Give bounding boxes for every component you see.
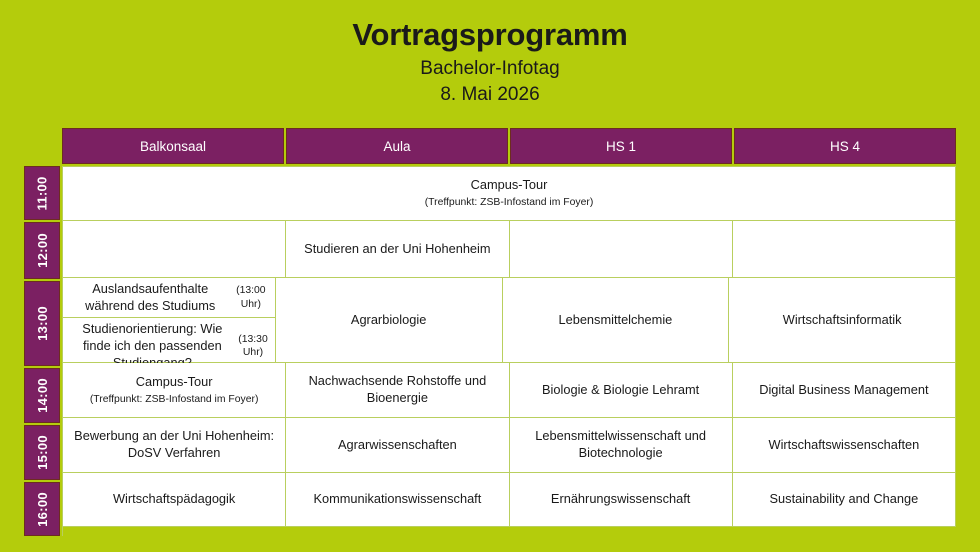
page-subtitle: Bachelor-Infotag [0, 56, 980, 82]
table-row: Studieren an der Uni Hohenheim [63, 221, 956, 278]
session-title: Kommunikationswissenschaft [313, 491, 481, 508]
session-title: Wirtschaftspädagogik [113, 491, 235, 508]
table-body: 11:00 12:00 13:00 14:00 15:00 16:00 [24, 166, 956, 536]
table-row: Wirtschaftspädagogik Kommunikationswisse… [63, 473, 956, 527]
schedule-table: Balkonsaal Aula HS 1 HS 4 11:00 12:00 13… [24, 128, 956, 536]
session-cell-auslandsaufenthalte[interactable]: Auslandsaufenthalte während des Studiums… [63, 278, 275, 318]
session-note: (Treffpunkt: ZSB-Infostand im Foyer) [425, 196, 594, 210]
column-header-hs1: HS 1 [510, 128, 732, 164]
session-cell-wirtschaftswissenschaften[interactable]: Wirtschaftswissenschaften [733, 418, 956, 472]
session-title: Wirtschaftsinformatik [783, 312, 902, 329]
time-label: 11:00 [35, 176, 50, 210]
session-title: Campus-Tour [471, 177, 548, 194]
time-cell-1100: 11:00 [24, 166, 60, 220]
session-title: Agrarbiologie [351, 312, 426, 329]
session-title: Nachwachsende Rohstoffe und Bioenergie [293, 373, 501, 407]
time-label: 13:00 [35, 306, 50, 341]
time-column: 11:00 12:00 13:00 14:00 15:00 16:00 [24, 166, 60, 536]
session-title: Ernährungswissenschaft [551, 491, 690, 508]
session-cell-lebensmittelwissenschaft-biotechnologie[interactable]: Lebensmittelwissenschaft und Biotechnolo… [510, 418, 733, 472]
session-title: Lebensmittelchemie [558, 312, 672, 329]
column-header-aula: Aula [286, 128, 508, 164]
session-cell-ernaehrungswissenschaft[interactable]: Ernährungswissenschaft [510, 473, 733, 526]
session-cell-studieren-1200-aula[interactable]: Studieren an der Uni Hohenheim [286, 221, 509, 277]
session-cell-empty-1200-hs1 [510, 221, 733, 277]
page-date: 8. Mai 2026 [0, 82, 980, 108]
session-title: Campus-Tour [136, 374, 213, 391]
session-title: Studieren an der Uni Hohenheim [304, 241, 490, 258]
table-header-row: Balkonsaal Aula HS 1 HS 4 [62, 128, 956, 164]
session-cell-nachwachsende-rohstoffe[interactable]: Nachwachsende Rohstoffe und Bioenergie [286, 363, 509, 417]
session-title: Lebensmittelwissenschaft und Biotechnolo… [517, 428, 725, 462]
session-cell-agrarwissenschaften[interactable]: Agrarwissenschaften [286, 418, 509, 472]
session-cell-empty-1200-hs4 [733, 221, 956, 277]
time-label: 14:00 [35, 378, 50, 413]
session-cell-campus-tour-1100[interactable]: Campus-Tour (Treffpunkt: ZSB-Infostand i… [63, 167, 956, 220]
table-row: Campus-Tour (Treffpunkt: ZSB-Infostand i… [63, 167, 956, 221]
session-cell-sustainability-and-change[interactable]: Sustainability and Change [733, 473, 956, 526]
column-header-hs4: HS 4 [734, 128, 956, 164]
session-time-note: (13:30 Uhr) [238, 333, 267, 360]
session-cell-biologie-lehramt[interactable]: Biologie & Biologie Lehramt [510, 363, 733, 417]
session-time-note: (13:00 Uhr) [234, 284, 268, 311]
time-cell-1300: 13:00 [24, 281, 60, 366]
time-cell-1200: 12:00 [24, 222, 60, 279]
page-title-block: Vortragsprogramm Bachelor-Infotag 8. Mai… [0, 18, 980, 108]
session-note: (Treffpunkt: ZSB-Infostand im Foyer) [90, 393, 259, 407]
session-cell-digital-business-management[interactable]: Digital Business Management [733, 363, 956, 417]
time-cell-1500: 15:00 [24, 425, 60, 480]
time-cell-1400: 14:00 [24, 368, 60, 423]
session-cell-wirtschaftsinformatik[interactable]: Wirtschaftsinformatik [729, 278, 956, 362]
session-cell-lebensmittelchemie[interactable]: Lebensmittelchemie [503, 278, 730, 362]
session-cell-bewerbung-dosv[interactable]: Bewerbung an der Uni Hohenheim: DoSV Ver… [63, 418, 286, 472]
schedule-page: Vortragsprogramm Bachelor-Infotag 8. Mai… [0, 0, 980, 552]
session-title: Auslandsaufenthalte während des Studiums [70, 281, 230, 314]
session-cell-agrarbiologie[interactable]: Agrarbiologie [276, 278, 503, 362]
time-label: 12:00 [35, 233, 50, 268]
time-cell-1600: 16:00 [24, 482, 60, 536]
table-row: Bewerbung an der Uni Hohenheim: DoSV Ver… [63, 418, 956, 473]
session-cell-kommunikationswissenschaft[interactable]: Kommunikationswissenschaft [286, 473, 509, 526]
session-cell-empty-1200-balkonsaal [63, 221, 286, 277]
time-label: 15:00 [35, 435, 50, 470]
page-title: Vortragsprogramm [0, 18, 980, 53]
session-title: Sustainability and Change [770, 491, 919, 508]
table-row: Auslandsaufenthalte während des Studiums… [63, 278, 956, 363]
session-cell-campus-tour-1400[interactable]: Campus-Tour (Treffpunkt: ZSB-Infostand i… [63, 363, 286, 417]
session-cell-wirtschaftspaedagogik[interactable]: Wirtschaftspädagogik [63, 473, 286, 526]
table-row: Campus-Tour (Treffpunkt: ZSB-Infostand i… [63, 363, 956, 418]
session-title: Bewerbung an der Uni Hohenheim: DoSV Ver… [70, 428, 278, 462]
session-cell-split-1300-balkonsaal: Auslandsaufenthalte während des Studiums… [63, 278, 276, 362]
column-header-balkonsaal: Balkonsaal [62, 128, 284, 164]
session-title: Biologie & Biologie Lehramt [542, 382, 699, 399]
session-title: Agrarwissenschaften [338, 437, 457, 454]
session-title: Digital Business Management [759, 382, 928, 399]
time-label: 16:00 [35, 492, 50, 527]
session-title: Wirtschaftswissenschaften [768, 437, 919, 454]
session-grid: Campus-Tour (Treffpunkt: ZSB-Infostand i… [62, 166, 956, 536]
